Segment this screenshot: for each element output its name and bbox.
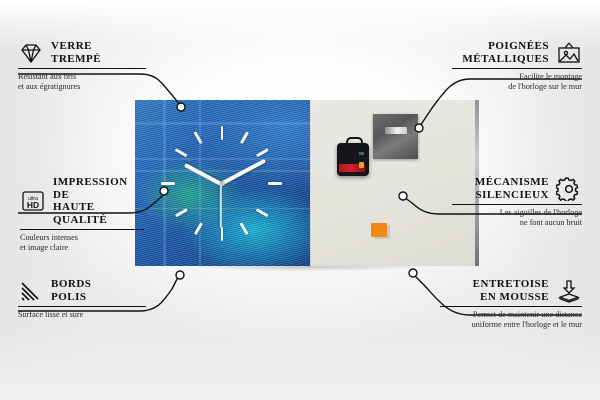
connector-node [177, 103, 185, 111]
callout-rule [440, 306, 582, 307]
connector-node [399, 192, 407, 200]
callout-bords-polis: BORDS POLIS Surface lisse et sûre [18, 278, 146, 320]
callout-entretoise-en-mousse: ENTRETOISE EN MOUSSE Permet de maintenir… [440, 278, 582, 330]
callout-title: BORDS POLIS [51, 278, 91, 303]
callout-subtitle: Permet de maintenir une distance uniform… [440, 310, 582, 330]
callout-title: POIGNÉES MÉTALLIQUES [462, 40, 549, 65]
connector-node [409, 269, 417, 277]
callout-subtitle: Résistant aux bris et aux égratignures [18, 72, 146, 92]
polished-edge-icon [18, 279, 44, 303]
picture-frame-icon [556, 41, 582, 65]
svg-text:HD: HD [27, 200, 39, 210]
callout-impression-haute-qualite: ultra HD IMPRESSION DE HAUTE QUALITÉ Cou… [20, 176, 144, 253]
callout-rule [18, 306, 146, 307]
callout-rule [20, 229, 144, 230]
callout-rule [452, 204, 582, 205]
connector-node [160, 187, 168, 195]
callout-subtitle: Couleurs intenses et image claire [20, 233, 144, 253]
diamond-icon [18, 41, 44, 65]
callout-verre-trempe: VERRE TREMPÉ Résistant aux bris et aux é… [18, 40, 146, 92]
gear-icon [556, 177, 582, 201]
callout-title: ENTRETOISE EN MOUSSE [473, 278, 549, 303]
callout-title: MÉCANISME SILENCIEUX [475, 176, 549, 201]
callout-subtitle: Facilite le montage de l'horloge sur le … [452, 72, 582, 92]
ultra-hd-icon: ultra HD [20, 189, 46, 213]
callout-rule [18, 68, 146, 69]
infographic-canvas: VERRE TREMPÉ Résistant aux bris et aux é… [0, 0, 600, 400]
callout-rule [452, 68, 582, 69]
callout-poignees-metalliques: POIGNÉES MÉTALLIQUES Facilite le montage… [452, 40, 582, 92]
callout-title: IMPRESSION DE HAUTE QUALITÉ [53, 176, 144, 226]
callout-title: VERRE TREMPÉ [51, 40, 101, 65]
connector-node [415, 124, 423, 132]
connector-node [176, 271, 184, 279]
callout-mecanisme-silencieux: MÉCANISME SILENCIEUX Les aiguilles de l'… [452, 176, 582, 228]
callout-subtitle: Surface lisse et sûre [18, 310, 146, 320]
callout-subtitle: Les aiguilles de l'horloge ne font aucun… [452, 208, 582, 228]
foam-spacer-icon [556, 279, 582, 303]
